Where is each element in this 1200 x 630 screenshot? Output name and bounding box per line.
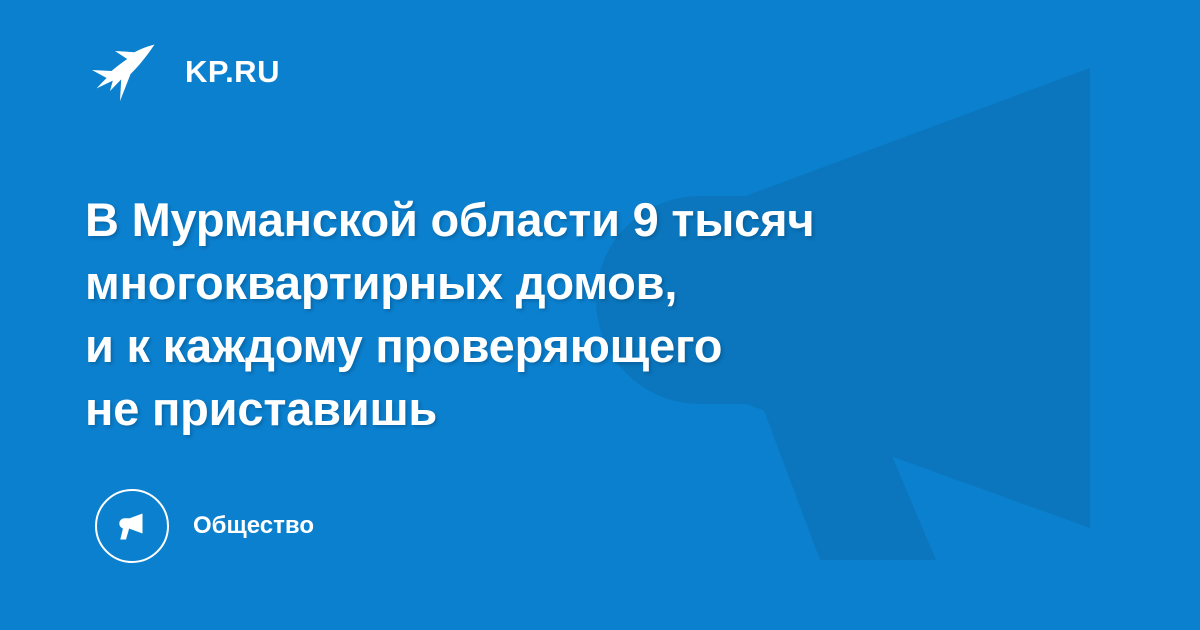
brand-name: KP.RU [185,56,280,87]
headline-line: В Мурманской области 9 тысяч [85,188,1045,251]
category-label: Общество [193,514,314,538]
headline-line: и к каждому проверяющего [85,314,1045,377]
brand-lockup[interactable]: KP.RU [85,35,280,107]
headline-line: не приставишь [85,377,1045,440]
megaphone-icon [112,506,152,546]
share-card: KP.RU В Мурманской области 9 тысяч много… [0,0,1200,630]
category-icon-badge [95,489,169,563]
swallow-bird-logo-icon [85,35,157,107]
category-tag[interactable]: Общество [95,489,314,563]
headline: В Мурманской области 9 тысяч многокварти… [85,188,1045,440]
headline-line: многоквартирных домов, [85,251,1045,314]
